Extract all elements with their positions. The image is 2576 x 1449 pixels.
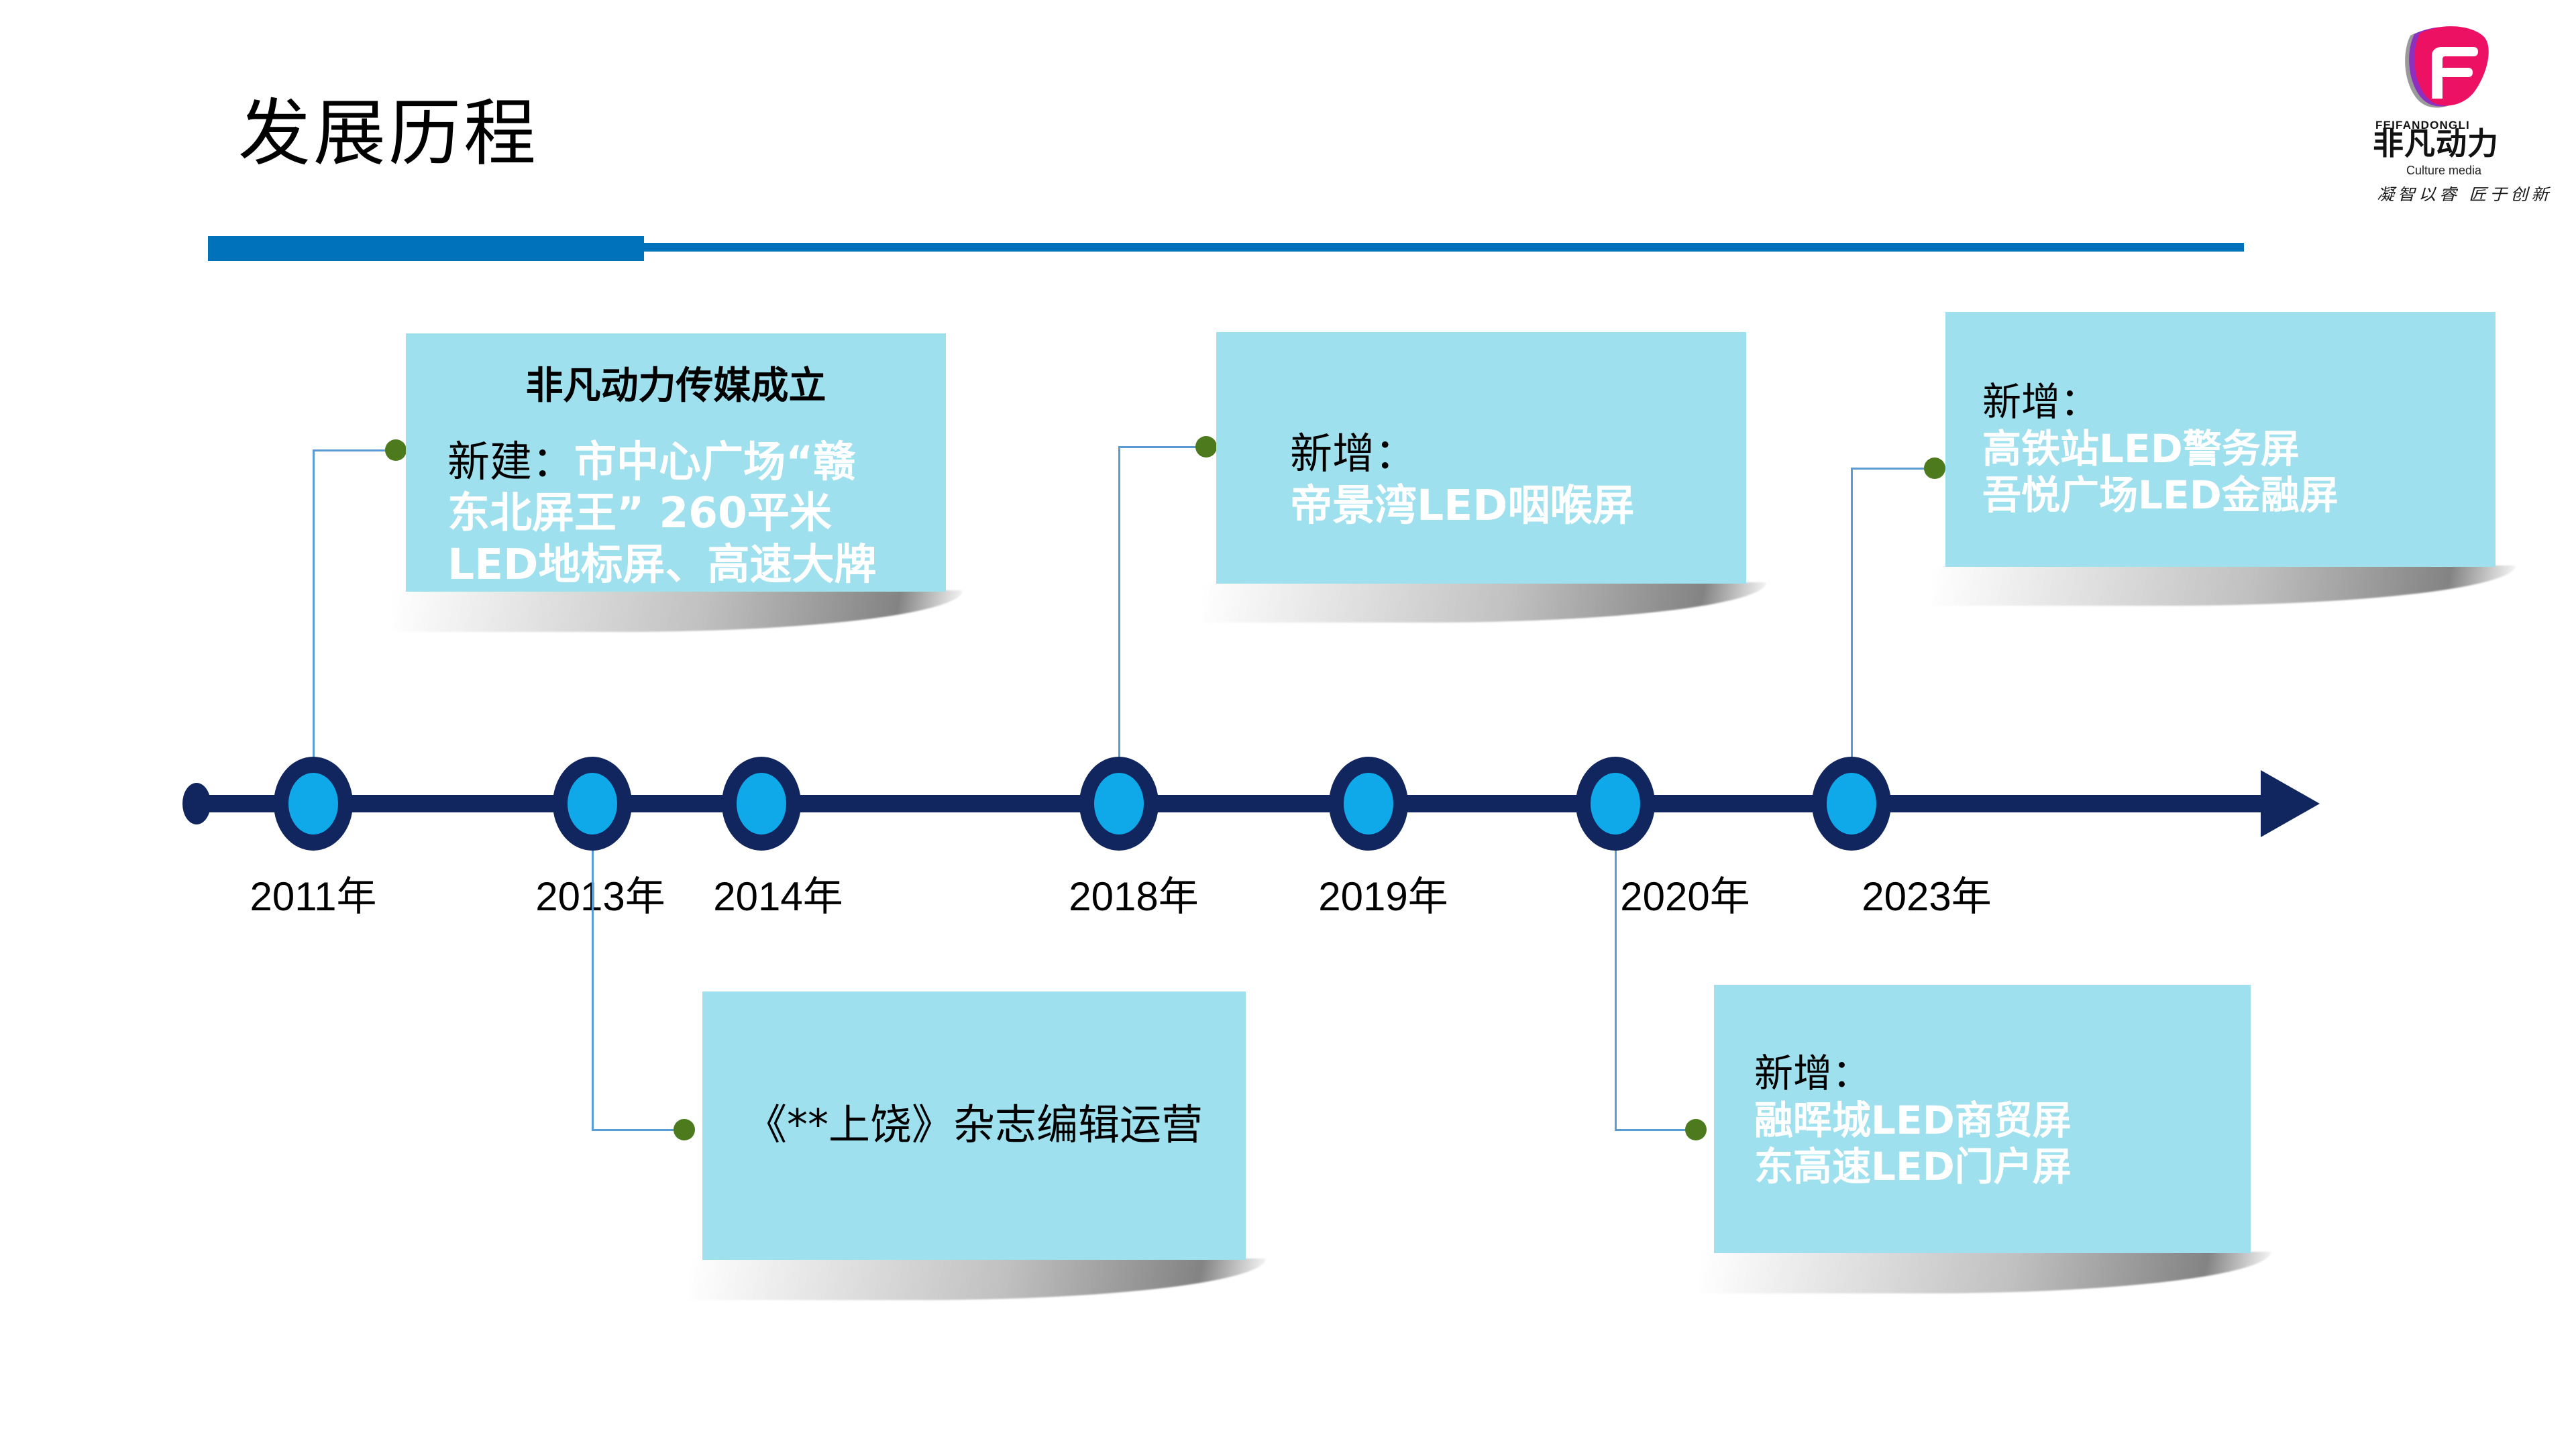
timeline-node-2018[interactable]	[1079, 757, 1159, 851]
logo-tagline: 凝智以睿 匠于创新	[2377, 182, 2552, 205]
connector-dot-2018	[1195, 436, 1217, 458]
timeline-year-2020: 2020年	[1620, 864, 1750, 922]
company-logo: FEIFANDONGLI 非凡动力 Culture media 凝智以睿 匠于创…	[2371, 17, 2526, 215]
timeline-node-2019[interactable]	[1329, 757, 1408, 851]
card-2023-highlight-2: 吾悦广场LED金融屏	[1982, 472, 2339, 518]
card-2020-highlight-1: 融晖城LED商贸屏	[1754, 1097, 2072, 1143]
card-2011-title: 非凡动力传媒成立	[406, 366, 946, 407]
card-shadow-2011	[392, 590, 963, 632]
title-accent-bar-thin	[641, 243, 2244, 252]
card-shadow-2018	[1203, 582, 1766, 623]
card-2013-body: 《**上饶》杂志编辑运营	[702, 991, 1246, 1150]
timeline-year-2023: 2023年	[1862, 864, 1991, 922]
timeline-node-2014[interactable]	[722, 757, 801, 851]
logo-chinese-name: 非凡动力	[2373, 128, 2499, 159]
card-2023-body: 新增： 高铁站LED警务屏 吾悦广场LED金融屏	[1945, 312, 2495, 519]
logo-f-mark-icon	[2390, 23, 2491, 117]
timeline-axis	[191, 795, 2271, 812]
timeline-arrow-icon	[2261, 770, 2320, 837]
card-2020-body: 新增： 融晖城LED商贸屏 东高速LED门户屏	[1714, 985, 2251, 1191]
card-2020-highlight-2: 东高速LED门户屏	[1754, 1144, 2072, 1189]
card-shadow-2023	[1932, 566, 2516, 606]
connector-dot-2020	[1685, 1119, 1707, 1140]
card-2018-label: 新增：	[1290, 429, 1417, 478]
card-2023-highlight-1: 高铁站LED警务屏	[1982, 426, 2300, 472]
timeline-node-2023[interactable]	[1812, 757, 1891, 851]
card-shadow-2020	[1701, 1252, 2271, 1293]
timeline-year-2013: 2013年	[535, 864, 665, 922]
title-accent-bar-thick	[208, 236, 644, 261]
timeline-node-2020[interactable]	[1576, 757, 1655, 851]
timeline-year-2018: 2018年	[1069, 864, 1198, 922]
card-2011-body: 新建：市中心广场“赣 东北屏王” 260平米 LED地标屏、高速大牌	[406, 437, 946, 592]
page-title: 发展历程	[238, 94, 539, 174]
connector-2013-vertical	[592, 835, 594, 1130]
connector-dot-2011	[385, 439, 407, 461]
card-2018-body: 新增： 帝景湾LED咽喉屏	[1216, 332, 1746, 532]
milestone-card-2018[interactable]: 新增： 帝景湾LED咽喉屏	[1216, 332, 1746, 584]
milestone-card-2020[interactable]: 新增： 融晖城LED商贸屏 东高速LED门户屏	[1714, 985, 2251, 1253]
timeline-year-2014: 2014年	[713, 864, 843, 922]
card-2011-highlight-3: LED地标屏、高速大牌	[447, 540, 876, 589]
card-2011-highlight-1: 市中心广场“赣	[574, 437, 855, 486]
milestone-card-2011[interactable]: 非凡动力传媒成立 新建：市中心广场“赣 东北屏王” 260平米 LED地标屏、高…	[406, 333, 946, 592]
card-2023-label: 新增：	[1982, 379, 2099, 425]
card-shadow-2013	[689, 1258, 1266, 1300]
connector-2020-vertical	[1615, 835, 1617, 1130]
timeline-year-2011: 2011年	[250, 864, 376, 922]
milestone-card-2013[interactable]: 《**上饶》杂志编辑运营	[702, 991, 1246, 1260]
card-2020-label: 新增：	[1754, 1051, 1871, 1096]
timeline-node-2011[interactable]	[274, 757, 353, 851]
milestone-card-2023[interactable]: 新增： 高铁站LED警务屏 吾悦广场LED金融屏	[1945, 312, 2495, 567]
connector-dot-2013	[674, 1119, 695, 1140]
card-2018-highlight-1: 帝景湾LED咽喉屏	[1290, 481, 1634, 530]
timeline-year-2019: 2019年	[1318, 864, 1448, 922]
card-2011-label: 新建：	[447, 437, 574, 486]
timeline-node-2013[interactable]	[553, 757, 632, 851]
card-2011-highlight-2: 东北屏王” 260平米	[447, 488, 832, 537]
logo-english-name: Culture media	[2406, 164, 2481, 178]
connector-dot-2023	[1924, 458, 1945, 479]
